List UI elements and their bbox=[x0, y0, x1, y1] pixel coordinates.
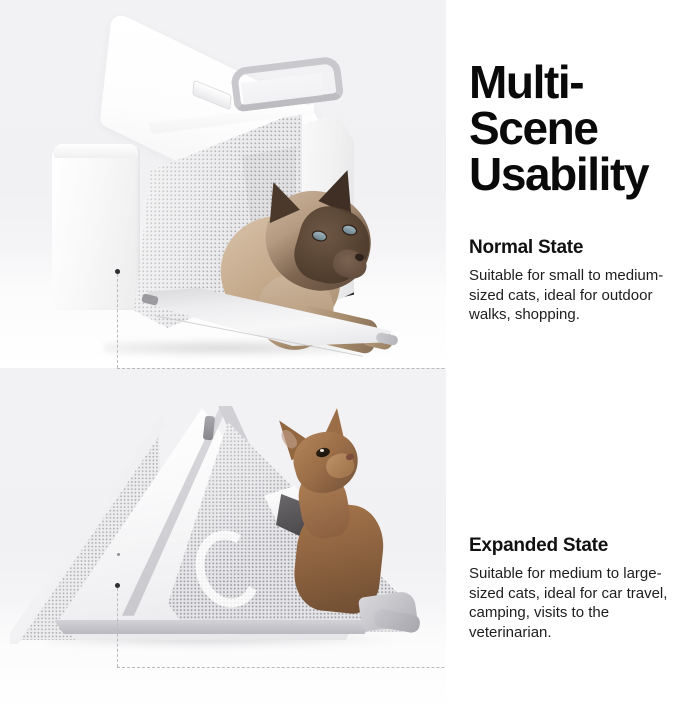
copy-column: Multi-SceneUsability Normal State Suitab… bbox=[446, 0, 679, 712]
section-body-normal-state: Suitable for small to medium-sized cats,… bbox=[469, 266, 677, 325]
carrier-base-rail bbox=[54, 620, 374, 634]
section-title-normal-state: Normal State bbox=[469, 236, 677, 260]
callout-connector-vertical-normal bbox=[117, 274, 118, 368]
product-image-column bbox=[0, 0, 446, 712]
callout-connector-vertical-expanded bbox=[117, 588, 118, 667]
pet-carrier-normal bbox=[46, 52, 386, 342]
page-title-line-3: Usability bbox=[469, 148, 648, 200]
page-title: Multi-SceneUsability bbox=[469, 59, 679, 197]
page-title-line-2: Scene bbox=[469, 102, 598, 154]
pet-carrier-expanded bbox=[8, 398, 438, 660]
section-expanded-state: Expanded State Suitable for medium to la… bbox=[469, 534, 677, 642]
carrier-grommet bbox=[117, 553, 120, 556]
cat-eye-highlight bbox=[320, 449, 324, 452]
section-title-expanded-state: Expanded State bbox=[469, 534, 677, 558]
page-title-line-1: Multi- bbox=[469, 56, 583, 108]
carrier-side-panel bbox=[52, 148, 140, 310]
cat-abyssinian bbox=[270, 408, 400, 608]
carrier-side-top-edge bbox=[54, 144, 138, 158]
product-photo-normal-state bbox=[0, 0, 446, 368]
section-body-expanded-state: Suitable for medium to large-sized cats,… bbox=[469, 564, 677, 642]
section-normal-state: Normal State Suitable for small to mediu… bbox=[469, 236, 677, 325]
product-photo-expanded-state bbox=[0, 368, 446, 712]
infographic-page: Multi-SceneUsability Normal State Suitab… bbox=[0, 0, 679, 712]
